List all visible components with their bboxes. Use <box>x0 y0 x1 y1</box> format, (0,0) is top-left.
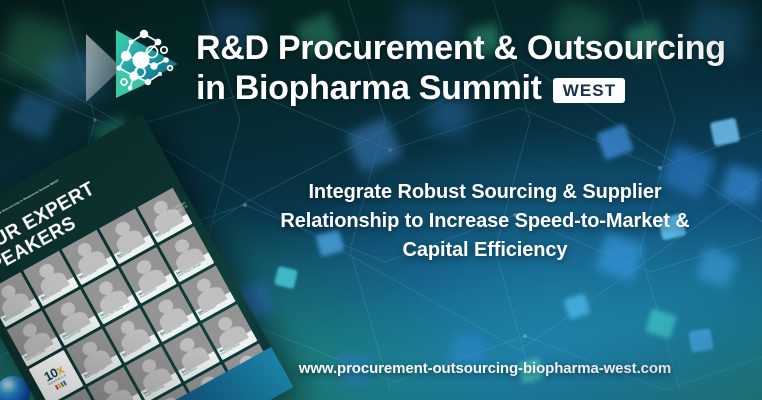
event-title: R&D Procurement & Outsourcing in Biophar… <box>196 28 726 108</box>
region-badge: WEST <box>553 78 626 103</box>
event-title-line-2: in Biopharma Summit <box>196 68 542 108</box>
event-logo-lockup: R&D Procurement & Outsourcing in Biophar… <box>86 16 712 122</box>
event-website-url[interactable]: www.procurement-outsourcing-biopharma-we… <box>250 360 720 377</box>
molecular-network-triangle-logo-icon <box>86 16 190 120</box>
event-title-line-1: R&D Procurement & Outsourcing <box>196 28 726 68</box>
event-headline: Integrate Robust Sourcing & Supplier Rel… <box>250 178 720 265</box>
event-banner: R&D Procurement & Outsourcing in Biophar… <box>0 0 762 400</box>
